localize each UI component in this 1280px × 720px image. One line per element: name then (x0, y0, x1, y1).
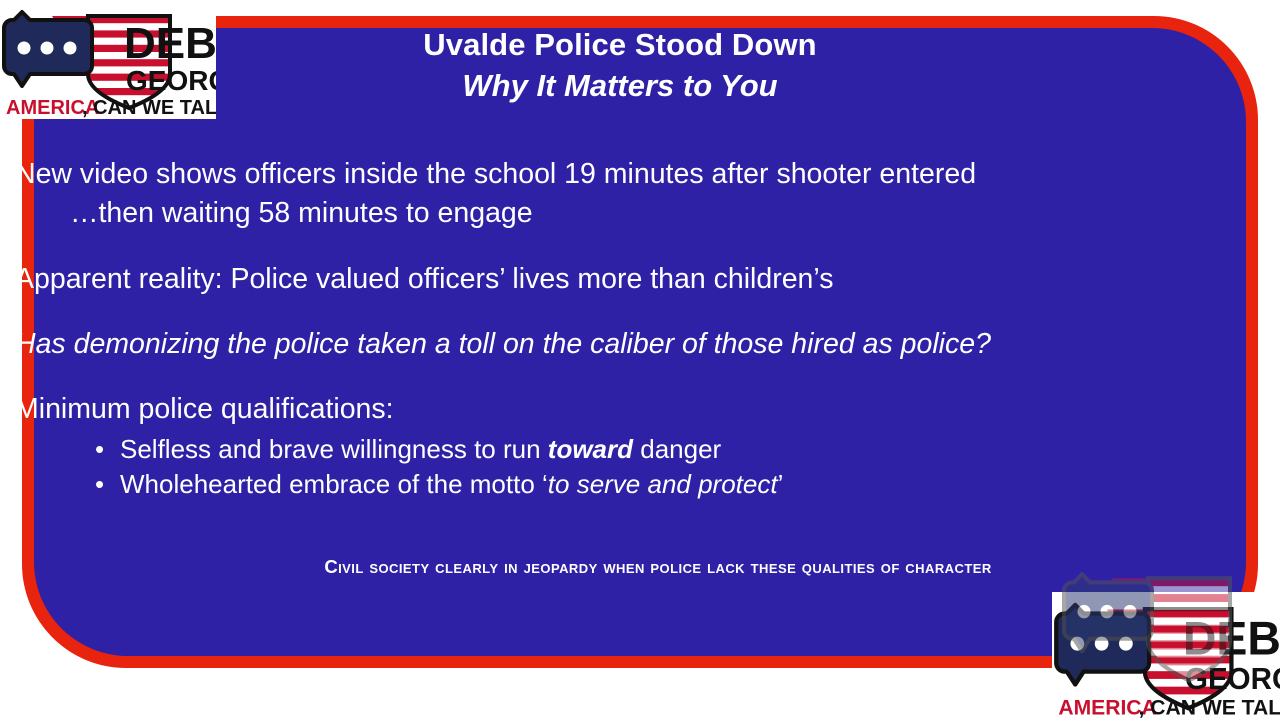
body-paragraph-3: Has demonizing the police taken a toll o… (15, 325, 1240, 364)
title-line-subtitle: Why It Matters to You (120, 67, 1120, 105)
body-paragraph-2: Apparent reality: Police valued officers… (15, 260, 1240, 299)
spacer (15, 299, 1240, 325)
slide-title: Uvalde Police Stood Down Why It Matters … (120, 26, 1120, 105)
list-item-emphasis: toward (548, 434, 633, 464)
list-item: • Selfless and brave willingness to run … (15, 432, 1240, 468)
list-item-emphasis: to serve and protect (548, 469, 778, 499)
list-item-text-pre: Wholehearted embrace of the motto ‘ (120, 469, 548, 499)
logo-brand-line2: GEORGATOS (126, 65, 216, 96)
slide-caption-text: Civil society clearly in jeopardy when p… (288, 556, 991, 578)
speech-bubble-icon (1056, 605, 1149, 685)
body-paragraph-1-continuation: …then waiting 58 minutes to engage (15, 194, 1240, 233)
logo-brand-line2: GEORGATOS (1185, 663, 1280, 696)
debbie-georgatos-logo-icon: DEBBIE GEORGATOS AMERICA , CAN WE TALK? (1052, 592, 1280, 720)
slide-caption: Civil society clearly in jeopardy when p… (0, 556, 1280, 578)
title-line-primary: Uvalde Police Stood Down (120, 26, 1120, 64)
qualification-list: • Selfless and brave willingness to run … (15, 432, 1240, 503)
brand-logo-bottom-right: DEBBIE GEORGATOS AMERICA , CAN WE TALK? (1052, 592, 1280, 720)
slide-body: New video shows officers inside the scho… (15, 155, 1240, 503)
bullet-icon: • (95, 432, 104, 468)
brand-logo-top-left: DEBBIE GEORGATOS AMERICA , CAN WE TALK? (0, 0, 216, 119)
list-item: • Wholehearted embrace of the motto ‘to … (15, 467, 1240, 503)
list-item-text-post: danger (633, 434, 721, 464)
logo-tagline-rest: , CAN WE TALK? (1139, 695, 1280, 719)
list-item-text-post: ’ (778, 469, 784, 499)
spacer (15, 234, 1240, 260)
body-paragraph-4: Minimum police qualifications: (15, 390, 1240, 429)
debbie-georgatos-logo-icon: DEBBIE GEORGATOS AMERICA , CAN WE TALK? (0, 0, 216, 119)
spacer (15, 364, 1240, 390)
body-paragraph-1: New video shows officers inside the scho… (15, 155, 1240, 194)
list-item-text-pre: Selfless and brave willingness to run (120, 434, 548, 464)
logo-brand-line1: DEBBIE (124, 19, 216, 68)
logo-brand-line1: DEBBIE (1183, 612, 1280, 664)
bullet-icon: • (95, 467, 104, 503)
logo-tagline-rest: , CAN WE TALK? (82, 97, 216, 119)
speech-bubble-icon (4, 12, 92, 86)
